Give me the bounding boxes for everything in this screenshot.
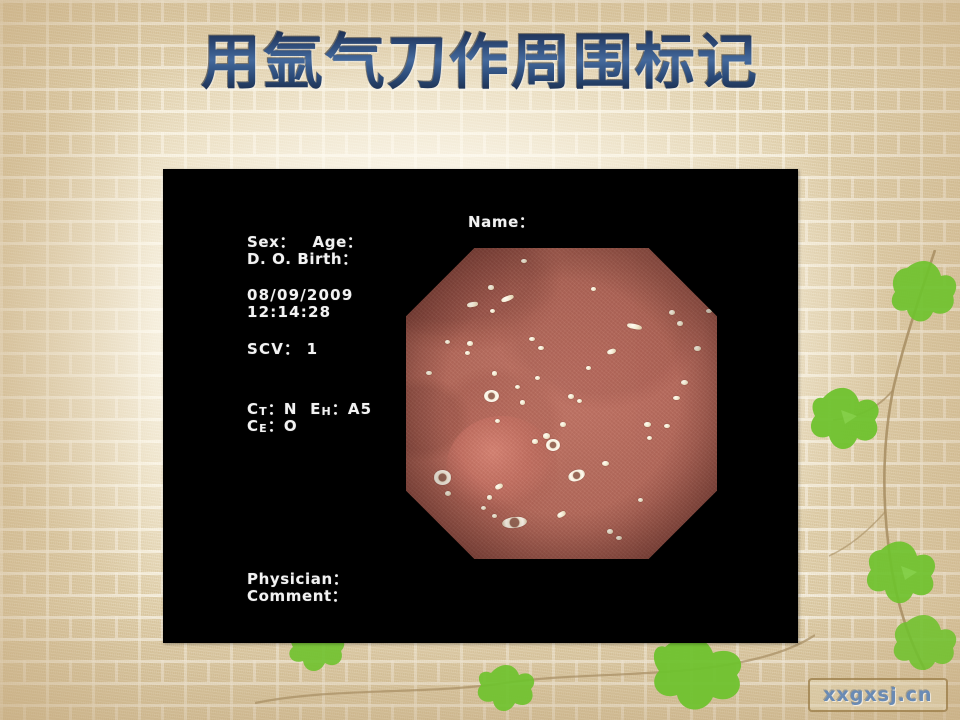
endoscopy-image-panel: Name： Sex： Age： D. O. Birth： 08/09/2009 … xyxy=(163,169,798,643)
endo-dob-label: D. O. Birth： xyxy=(247,248,358,269)
endo-name-label: Name： xyxy=(468,211,534,232)
endo-scv-value: SCV： 1 xyxy=(247,338,318,359)
endo-eh-subscript: H xyxy=(321,405,331,418)
slide-canvas: 用氩气刀作周围标记 Name： Sex： Age： D. O. Birth： 0… xyxy=(0,0,960,720)
endo-date-value: 08/09/2009 xyxy=(247,286,353,304)
watermark-text: xxgxsj.cn xyxy=(823,684,932,706)
endo-time-value: 12:14:28 xyxy=(247,303,331,321)
endoscope-field-of-view xyxy=(406,248,717,559)
endoscopic-photograph xyxy=(406,248,717,559)
endo-ce-subscript: E xyxy=(259,422,268,435)
endoscope-vignette xyxy=(406,248,717,559)
apc-marking-dot xyxy=(689,279,695,283)
endo-ce-value: ：O xyxy=(268,417,298,435)
endo-ce-line: CE：O xyxy=(247,415,298,436)
site-watermark: xxgxsj.cn xyxy=(808,678,948,712)
page-title: 用氩气刀作周围标记 xyxy=(0,30,960,97)
endo-comment-label: Comment： xyxy=(247,585,347,606)
endo-eh-value: ：A5 xyxy=(332,400,372,418)
endo-ce-prefix: C xyxy=(247,417,259,435)
